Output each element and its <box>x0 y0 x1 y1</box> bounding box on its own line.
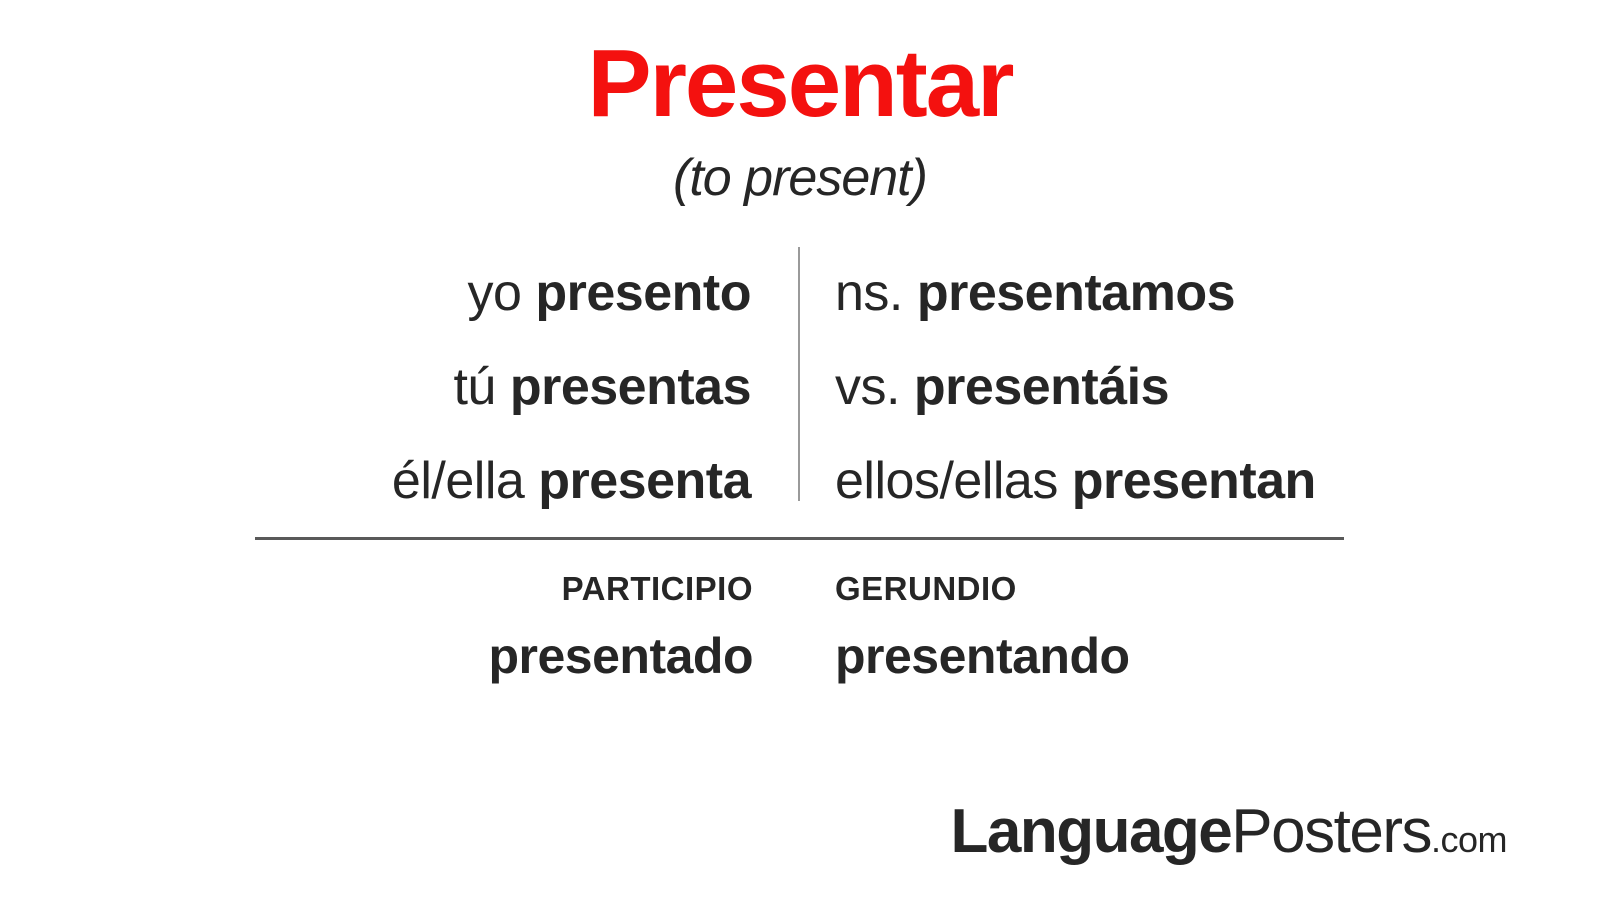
conjugation-cell-vosotros: vs. presentáis <box>818 360 1600 415</box>
conjugation-cell-tu: tú presentas <box>0 360 753 415</box>
gerundio-block: GERUNDIO presentando <box>818 572 1600 681</box>
page-title: Presentar <box>0 36 1600 132</box>
participio-value: presentado <box>0 631 753 681</box>
section-divider <box>255 537 1344 540</box>
verb-form-ellos-ellas: presentan <box>1072 452 1316 510</box>
logo-word-posters: Posters <box>1231 797 1431 866</box>
participio-label: PARTICIPIO <box>0 572 753 605</box>
gerundio-value: presentando <box>835 631 1600 681</box>
verb-conjugation-poster: Presentar (to present) yo presento ns. p… <box>0 0 1600 900</box>
pronoun-vosotros: vs. <box>835 358 914 416</box>
pronoun-yo: yo <box>468 264 536 322</box>
logo-word-language: Language <box>950 797 1231 866</box>
pronoun-tu: tú <box>453 358 509 416</box>
verb-form-nosotros: presentamos <box>917 264 1235 322</box>
conjugation-cell-el-ella: él/ella presenta <box>0 454 753 509</box>
nonfinite-forms-section: PARTICIPIO presentado GERUNDIO presentan… <box>0 572 1600 681</box>
verb-form-tu: presentas <box>510 358 751 416</box>
verb-translation: (to present) <box>0 152 1600 204</box>
verb-form-el-ella: presenta <box>538 452 751 510</box>
conjugation-table: yo presento ns. presentamos tú presentas… <box>0 246 1600 528</box>
column-divider <box>798 247 800 501</box>
site-logo[interactable]: LanguagePosters.com <box>950 801 1507 863</box>
participio-block: PARTICIPIO presentado <box>0 572 753 681</box>
verb-form-yo: presento <box>535 264 751 322</box>
pronoun-ellos-ellas: ellos/ellas <box>835 452 1072 510</box>
logo-tld: .com <box>1431 819 1507 860</box>
pronoun-nosotros: ns. <box>835 264 917 322</box>
pronoun-el-ella: él/ella <box>392 452 538 510</box>
grid-gutter <box>753 572 818 681</box>
verb-form-vosotros: presentáis <box>914 358 1169 416</box>
conjugation-cell-nosotros: ns. presentamos <box>818 266 1600 321</box>
gerundio-label: GERUNDIO <box>835 572 1600 605</box>
conjugation-cell-yo: yo presento <box>0 266 753 321</box>
conjugation-cell-ellos-ellas: ellos/ellas presentan <box>818 454 1600 509</box>
